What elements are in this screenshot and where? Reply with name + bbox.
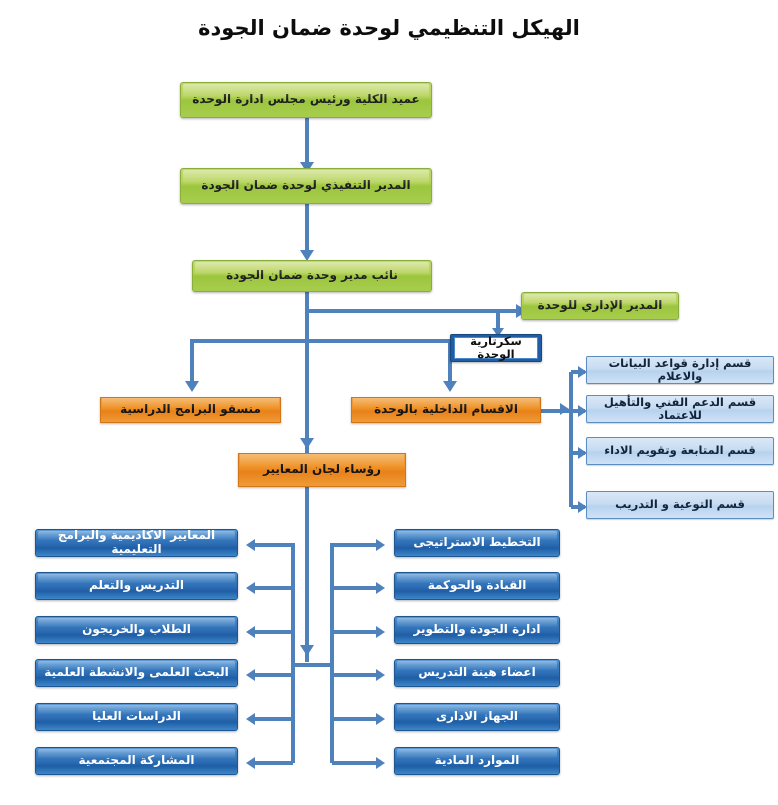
arrowhead-right-6	[376, 757, 385, 769]
connector-left-feeder-3	[255, 630, 293, 634]
connector-left-feeder-1	[255, 543, 293, 547]
arrowhead-left-3	[246, 626, 255, 638]
arrowhead-right-2	[376, 582, 385, 594]
node-committee-left-1-label: المعايير الاكاديمية والبرامج التعليمية	[42, 529, 231, 557]
connector-left-feeder-4	[255, 673, 293, 677]
node-dean[interactable]: عميد الكلية ورئيس مجلس ادارة الوحدة	[180, 82, 432, 118]
connector-left-rail	[291, 543, 295, 763]
arrowhead-depts-stub	[560, 403, 569, 415]
node-secretariat[interactable]: سكرتارية الوحدة	[450, 334, 542, 362]
node-internal-departments-label: الاقسام الداخلية بالوحدة	[374, 403, 518, 417]
node-committee-right-6[interactable]: الموارد المادية	[394, 747, 560, 775]
node-committee-left-1[interactable]: المعايير الاكاديمية والبرامج التعليمية	[35, 529, 238, 557]
connector-right-feeder-6	[332, 761, 380, 765]
node-committee-right-1-label: التخطيط الاستراتيجى	[413, 536, 540, 550]
node-department-2-label: قسم الدعم الفني والتأهيل للاعتماد	[593, 396, 767, 422]
node-standards-committee-heads[interactable]: رؤساء لجان المعايير	[238, 453, 406, 487]
connector-to-program-coordinators	[190, 341, 194, 383]
connector-split-bar	[190, 339, 452, 343]
node-program-coordinators-label: منسقو البرامج الدراسية	[120, 403, 261, 417]
node-committee-left-3[interactable]: الطلاب والخريجون	[35, 616, 238, 644]
node-committee-right-3-label: ادارة الجودة والتطوير	[414, 623, 541, 637]
node-committee-right-3[interactable]: ادارة الجودة والتطوير	[394, 616, 560, 644]
node-internal-departments[interactable]: الاقسام الداخلية بالوحدة	[351, 397, 541, 423]
connector-depts-rail	[569, 372, 573, 507]
node-committee-left-5[interactable]: الدراسات العليا	[35, 703, 238, 731]
node-committee-right-1[interactable]: التخطيط الاستراتيجى	[394, 529, 560, 557]
node-committee-right-4[interactable]: اعضاء هينة التدريس	[394, 659, 560, 687]
node-admin-director[interactable]: المدير الإداري للوحدة	[521, 292, 679, 320]
arrowhead-left-2	[246, 582, 255, 594]
node-admin-director-label: المدير الإداري للوحدة	[538, 299, 663, 313]
arrowhead-program-coordinators	[185, 381, 199, 392]
connector-left-feeder-6	[255, 761, 293, 765]
node-department-1-label: قسم إدارة قواعد البيانات والاعلام	[593, 357, 767, 383]
connector-right-rail	[330, 543, 334, 763]
arrowhead-right-4	[376, 669, 385, 681]
node-committee-left-4-label: البحث العلمى والانشطة العلمية	[44, 666, 229, 680]
arrowhead-right-5	[376, 713, 385, 725]
connector-right-feeder-1	[332, 543, 380, 547]
node-committee-right-4-label: اعضاء هينة التدريس	[418, 666, 535, 680]
node-department-1[interactable]: قسم إدارة قواعد البيانات والاعلام	[586, 356, 774, 384]
node-committee-right-6-label: الموارد المادية	[435, 754, 520, 768]
node-executive-director[interactable]: المدير التنفيذي لوحدة ضمان الجودة	[180, 168, 432, 204]
node-committee-left-6-label: المشاركة المجتمعية	[79, 754, 195, 768]
connector-dean-to-exec	[305, 118, 309, 164]
node-department-2[interactable]: قسم الدعم الفني والتأهيل للاعتماد	[586, 395, 774, 423]
page-title: الهيكل التنظيمي لوحدة ضمان الجودة	[0, 16, 778, 40]
node-department-4[interactable]: قسم التوعية و التدريب	[586, 491, 774, 519]
node-committee-right-5[interactable]: الجهاز الادارى	[394, 703, 560, 731]
connector-to-admin-director	[307, 309, 520, 313]
node-committee-left-6[interactable]: المشاركة المجتمعية	[35, 747, 238, 775]
node-committee-left-5-label: الدراسات العليا	[92, 710, 181, 724]
connector-right-feeder-5	[332, 717, 380, 721]
node-committee-left-2-label: التدريس والتعلم	[89, 579, 184, 593]
connector-right-feeder-3	[332, 630, 380, 634]
arrowhead-standards-heads	[300, 438, 314, 449]
arrowhead-right-1	[376, 539, 385, 551]
connector-rails-crossbar	[291, 663, 334, 667]
node-dean-label: عميد الكلية ورئيس مجلس ادارة الوحدة	[192, 93, 420, 107]
arrowhead-right-3	[376, 626, 385, 638]
connector-left-feeder-2	[255, 586, 293, 590]
arrowhead-left-1	[246, 539, 255, 551]
node-committee-right-2-label: القيادة والحوكمة	[428, 579, 527, 593]
node-executive-director-label: المدير التنفيذي لوحدة ضمان الجودة	[201, 179, 410, 193]
node-committee-left-2[interactable]: التدريس والتعلم	[35, 572, 238, 600]
node-deputy-director[interactable]: نائب مدير وحدة ضمان الجودة	[192, 260, 432, 292]
node-committee-right-5-label: الجهاز الادارى	[436, 710, 518, 724]
arrowhead-left-4	[246, 669, 255, 681]
arrowhead-committee-trunk	[300, 645, 314, 656]
org-chart-canvas: الهيكل التنظيمي لوحدة ضمان الجودة	[0, 0, 778, 805]
connector-right-feeder-2	[332, 586, 380, 590]
node-program-coordinators[interactable]: منسقو البرامج الدراسية	[100, 397, 281, 423]
node-department-4-label: قسم التوعية و التدريب	[615, 498, 745, 511]
node-committee-right-2[interactable]: القيادة والحوكمة	[394, 572, 560, 600]
node-secretariat-label: سكرتارية الوحدة	[454, 337, 538, 359]
node-committee-left-3-label: الطلاب والخريجون	[82, 623, 191, 637]
arrowhead-left-5	[246, 713, 255, 725]
node-department-3-label: قسم المتابعة وتقويم الاداء	[604, 444, 756, 457]
arrowhead-left-6	[246, 757, 255, 769]
connector-left-feeder-5	[255, 717, 293, 721]
node-deputy-director-label: نائب مدير وحدة ضمان الجودة	[226, 269, 398, 283]
node-committee-left-4[interactable]: البحث العلمى والانشطة العلمية	[35, 659, 238, 687]
arrowhead-internal-departments	[443, 381, 457, 392]
node-department-3[interactable]: قسم المتابعة وتقويم الاداء	[586, 437, 774, 465]
connector-exec-to-deputy	[305, 204, 309, 252]
connector-right-feeder-4	[332, 673, 380, 677]
node-standards-committee-heads-label: رؤساء لجان المعايير	[263, 463, 381, 477]
